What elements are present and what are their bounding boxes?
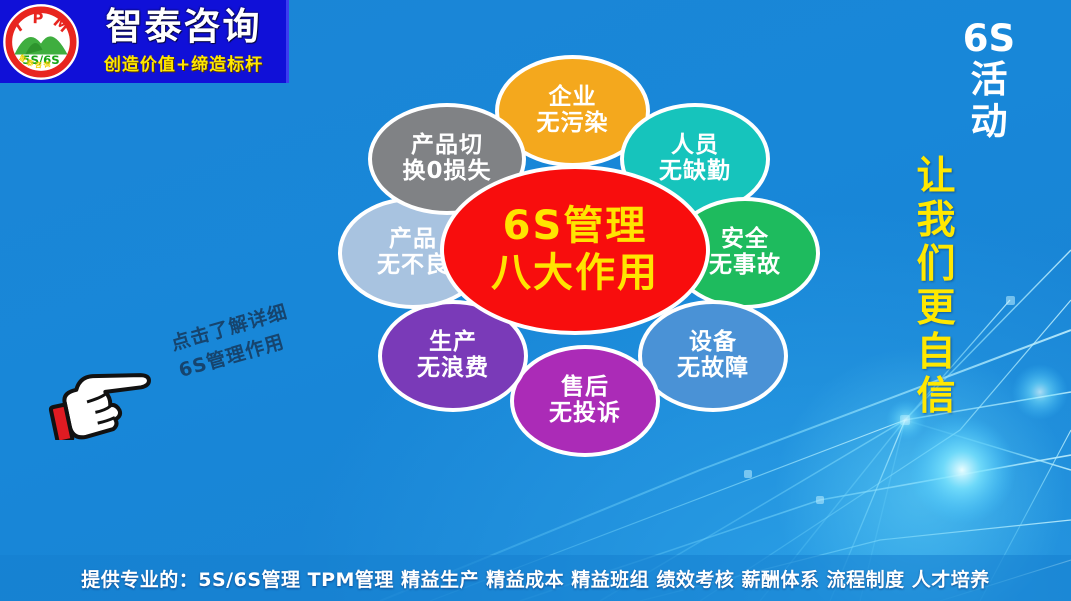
petal-line-2: 换0损失 — [402, 159, 491, 185]
bottom-services-bar: 提供专业的：5S/6S管理 TPM管理 精益生产 精益成本 精益班组 绩效考核 … — [0, 555, 1071, 601]
six-s-benefits-flower-diagram: 企业 无污染 人员 无缺勤 安全 无事故 设备 无故障 售后 无投诉 生产 无浪… — [320, 45, 840, 445]
petal-line-2: 无事故 — [709, 253, 781, 279]
vertical-title-char: 活 — [958, 59, 1020, 100]
vertical-slogan-char: 们 — [906, 243, 966, 287]
vertical-slogan: 让 我 们 更 自 信 — [906, 155, 966, 419]
brand-name: 智泰咨询 — [106, 8, 262, 45]
petal-aftersales-no-complaint[interactable]: 售后 无投诉 — [510, 345, 660, 457]
petal-line-2: 无投诉 — [549, 401, 621, 427]
petal-line-1: 设备 — [689, 330, 737, 356]
petal-line-1: 企业 — [549, 85, 597, 111]
petal-line-1: 安全 — [721, 227, 769, 253]
petal-equipment-no-failure[interactable]: 设备 无故障 — [638, 300, 788, 412]
brand-text-block: 智泰咨询 创造价值+缔造标杆 — [81, 8, 286, 75]
pointing-hand-icon[interactable] — [48, 350, 163, 440]
petal-line-1: 售后 — [561, 375, 609, 401]
core-line-2: 八大作用 — [491, 250, 659, 297]
petal-line-1: 人员 — [671, 133, 719, 159]
petal-line-2: 无污染 — [537, 111, 609, 137]
bottom-services-text: 提供专业的：5S/6S管理 TPM管理 精益生产 精益成本 精益班组 绩效考核 … — [81, 565, 989, 592]
petal-line-2: 无浪费 — [417, 356, 489, 382]
vertical-slogan-char: 信 — [906, 375, 966, 419]
vertical-slogan-char: 自 — [906, 331, 966, 375]
tpm-5s6s-logo-icon: TPM 5S/6S 智泰咨询 — [2, 3, 80, 81]
vertical-title-char: 6S — [958, 18, 1020, 59]
diagram-core-label[interactable]: 6S管理 八大作用 — [440, 165, 710, 335]
petal-line-1: 产品 — [389, 227, 437, 253]
company-logo-banner: TPM 5S/6S 智泰咨询 智泰咨询 创造价值+缔造标杆 — [0, 0, 289, 83]
vertical-slogan-char: 我 — [906, 199, 966, 243]
vertical-title-6s-activity: 6S 活 动 — [958, 18, 1020, 142]
petal-line-2: 无故障 — [677, 356, 749, 382]
petal-line-2: 无缺勤 — [659, 159, 731, 185]
vertical-slogan-char: 更 — [906, 287, 966, 331]
petal-line-1: 生产 — [429, 330, 477, 356]
vertical-slogan-char: 让 — [906, 155, 966, 199]
petal-line-1: 产品切 — [411, 133, 483, 159]
petal-line-2: 无不良 — [377, 253, 449, 279]
slide-canvas: TPM 5S/6S 智泰咨询 智泰咨询 创造价值+缔造标杆 企业 无污染 人员 … — [0, 0, 1071, 601]
core-line-1: 6S管理 — [503, 203, 648, 250]
vertical-title-char: 动 — [958, 101, 1020, 142]
brand-slogan: 创造价值+缔造标杆 — [104, 50, 263, 75]
cta-text[interactable]: 点击了解详细 6S管理作用 — [168, 299, 299, 385]
